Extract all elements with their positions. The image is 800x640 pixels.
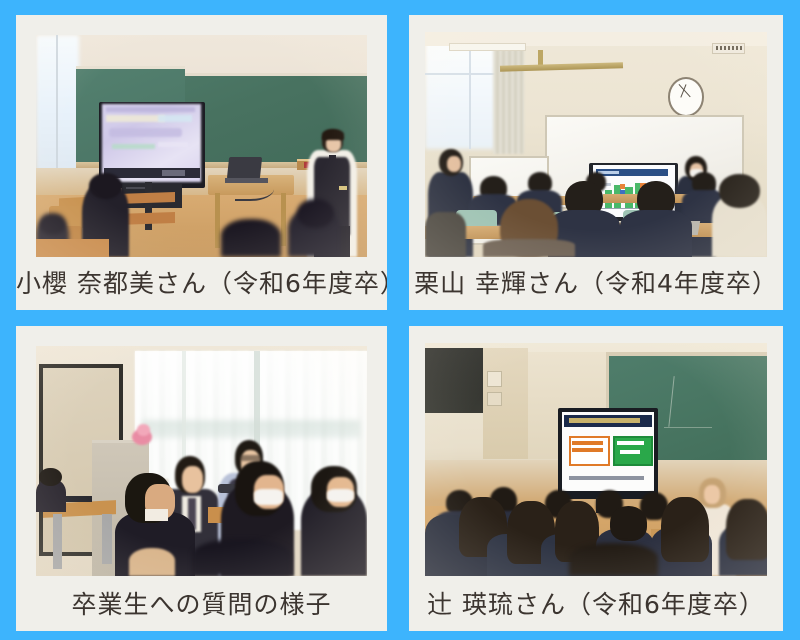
photo-card-2: 栗山 幸輝さん（令和4年度卒） [409,15,783,310]
card-3-caption: 卒業生への質問の様子 [16,576,387,631]
photo-vignette [425,343,767,576]
card-4-caption: 辻 瑛琉さん（令和6年度卒） [409,576,783,631]
photo-vignette [36,346,367,576]
card-1-caption: 小櫻 奈都美さん（令和6年度卒） [16,257,387,310]
photo-vignette [36,35,367,257]
photo-card-3: 卒業生への質問の様子 [16,326,387,631]
photo-students-questions [36,346,367,576]
card-2-caption: 栗山 幸輝さん（令和4年度卒） [409,257,783,310]
photo-classroom-audience [425,343,767,576]
photo-classroom-presentation [36,35,367,257]
photo-grid: 小櫻 奈都美さん（令和6年度卒） [0,0,800,640]
photo-card-4: 辻 瑛琉さん（令和6年度卒） [409,326,783,631]
photo-lecture-room [425,32,767,257]
photo-vignette [425,32,767,257]
photo-card-1: 小櫻 奈都美さん（令和6年度卒） [16,15,387,310]
